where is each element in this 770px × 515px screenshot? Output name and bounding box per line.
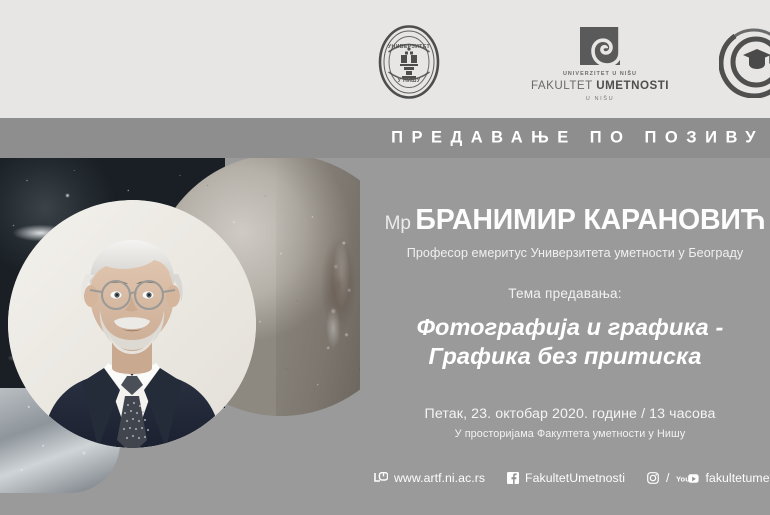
graduation-cap-roundel-logo <box>719 28 770 98</box>
svg-text:You: You <box>676 474 690 483</box>
website-link[interactable]: www.artf.ni.ac.rs <box>374 471 485 485</box>
faculty-logo-line2-light: FAKULTET <box>531 79 596 92</box>
faculty-logo-line2: FAKULTET UMETNOSTI <box>524 80 676 93</box>
stone-grit-crescent <box>276 158 360 416</box>
lecture-venue: У просторијама Факултета уметности у Ниш… <box>360 428 770 440</box>
lecture-info-block: Мр БРАНИМИР КАРАНОВИЋ Професор емеритус … <box>360 158 770 515</box>
youtube-icon: You <box>676 473 699 484</box>
university-seal-logo: УНИВЕРЗИТЕТ У НИШУ <box>378 24 440 100</box>
image-collage <box>0 158 360 515</box>
banner-title: ПРЕДАВАЊЕ ПО ПОЗИВУ <box>391 129 764 148</box>
poster-canvas: УНИВЕРЗИТЕТ У НИШУ <box>0 0 770 515</box>
theme-line-1: Фотографија и графика - <box>360 316 770 340</box>
social-separator: / <box>666 471 669 485</box>
facebook-icon <box>507 472 519 484</box>
lecture-date-time: Петак, 23. октобар 2020. године / 13 час… <box>360 406 770 422</box>
svg-text:У НИШУ: У НИШУ <box>398 78 421 84</box>
faculty-spiral-mark-icon <box>578 26 622 66</box>
website-icon <box>374 472 388 485</box>
faculty-logo-line3: U NIŠU <box>524 96 676 102</box>
facebook-label: FakultetUmetnosti <box>525 471 625 485</box>
lecturer-portrait-photo <box>8 200 256 448</box>
faculty-logo-line1: UNIVERZITET U NIŠU <box>524 72 676 78</box>
theme-label: Тема предавања: <box>360 286 770 301</box>
theme-line-2: Графика без притиска <box>355 345 770 369</box>
university-seal-icon: УНИВЕРЗИТЕТ У НИШУ <box>378 24 440 100</box>
header-bar: УНИВЕРЗИТЕТ У НИШУ <box>0 0 770 118</box>
logo-row: УНИВЕРЗИТЕТ У НИШУ <box>0 0 770 118</box>
instagram-icon <box>647 472 659 484</box>
faculty-logo-line2-bold: UMETNOSTI <box>596 79 669 92</box>
lecturer-name-line: Мр БРАНИМИР КАРАНОВИЋ <box>360 206 770 235</box>
lecturer-name-prefix: Мр <box>385 213 411 234</box>
social-links-bar: www.artf.ni.ac.rs FakultetUmetnosti / <box>374 471 770 485</box>
lecturer-subtitle: Професор емеритус Универзитета уметности… <box>360 246 770 260</box>
instagram-youtube-link[interactable]: / You fakultetumetnosti <box>647 471 770 485</box>
website-label: www.artf.ni.ac.rs <box>394 471 485 485</box>
invited-lecture-banner: ПРЕДАВАЊЕ ПО ПОЗИВУ <box>0 118 770 158</box>
lecturer-name: БРАНИМИР КАРАНОВИЋ <box>415 204 765 236</box>
facebook-link[interactable]: FakultetUmetnosti <box>507 471 625 485</box>
youtube-label: fakultetumetnosti <box>705 471 770 485</box>
portrait-illustration <box>8 200 256 448</box>
faculty-of-arts-logo: UNIVERZITET U NIŠU FAKULTET UMETNOSTI U … <box>524 26 676 102</box>
graduation-cap-icon <box>719 28 770 98</box>
